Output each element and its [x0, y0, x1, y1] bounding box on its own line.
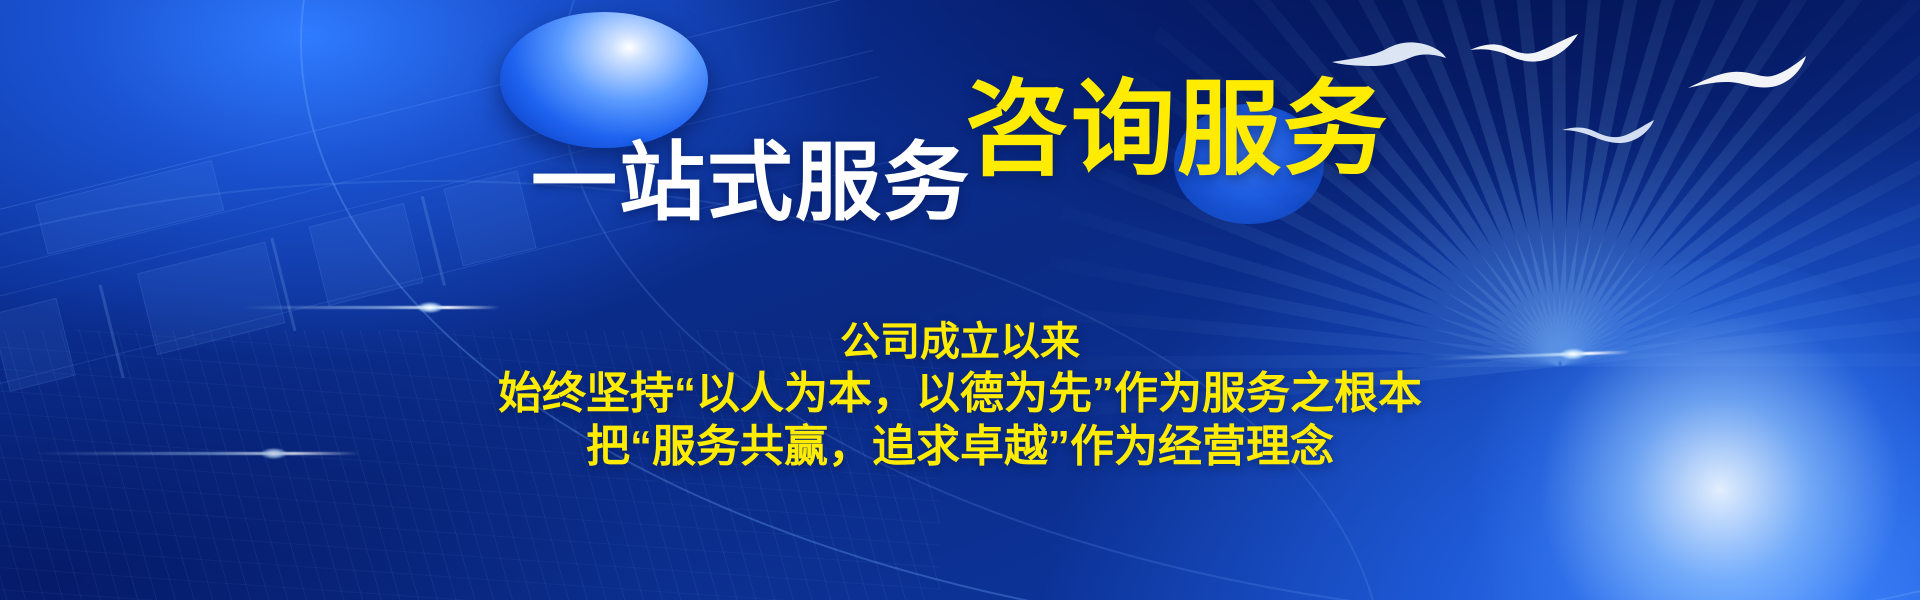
headline-yellow: 咨询服务	[965, 78, 1389, 182]
light-streak	[240, 306, 500, 309]
seagull-icon	[1468, 30, 1580, 68]
body-line-2: 始终坚持“以人为本，以德为先”作为服务之根本	[0, 367, 1920, 421]
headline-group: 一站式服务 咨询服务	[0, 78, 1920, 182]
seagull-icon	[1330, 36, 1448, 76]
promo-banner: 一站式服务 咨询服务 公司成立以来 始终坚持“以人为本，以德为先”作为服务之根本…	[0, 0, 1920, 600]
body-text-group: 公司成立以来 始终坚持“以人为本，以德为先”作为服务之根本 把“服务共赢，追求卓…	[0, 318, 1920, 474]
body-line-1: 公司成立以来	[0, 318, 1920, 367]
streak-glow	[417, 302, 443, 313]
body-line-3: 把“服务共赢，追求卓越”作为经营理念	[0, 420, 1920, 474]
headline-white: 一站式服务	[531, 140, 971, 226]
